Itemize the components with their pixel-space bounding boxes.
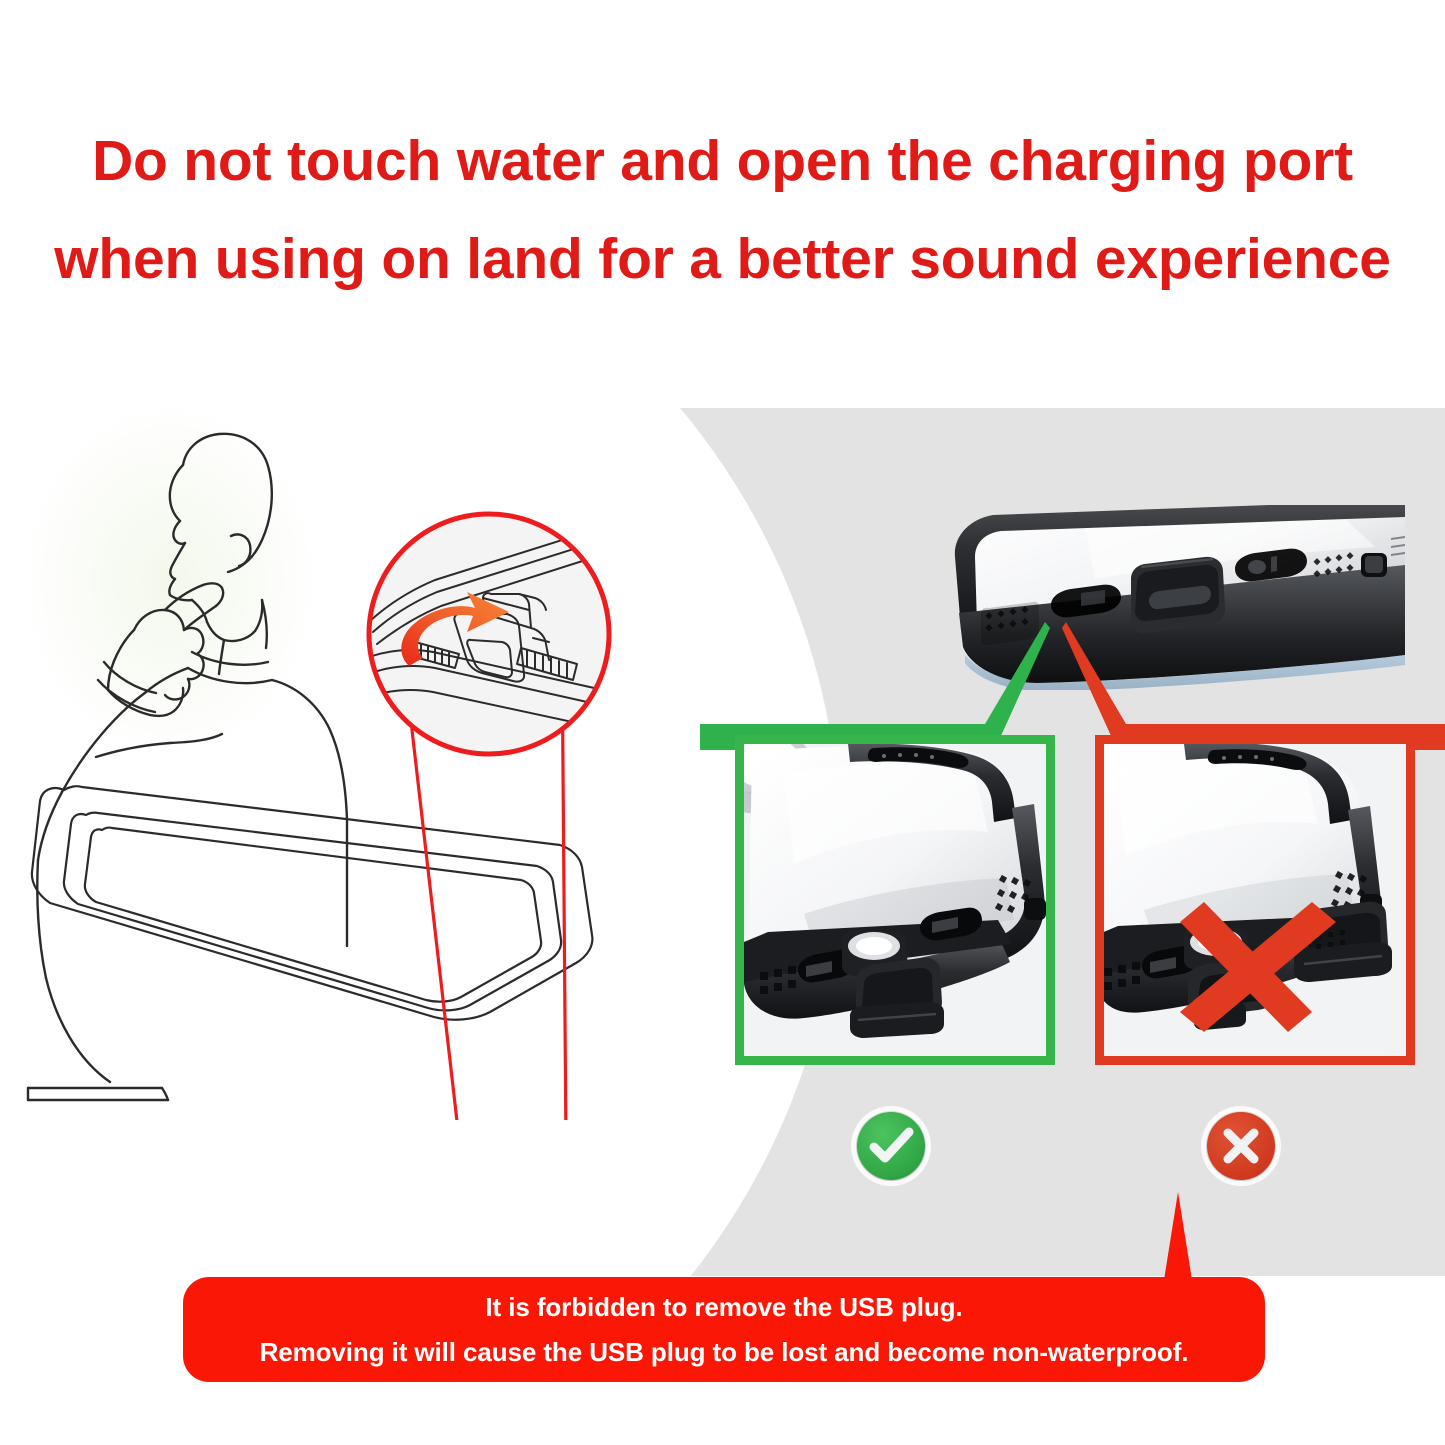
warning-banner: It is forbidden to remove the USB plug. … <box>183 1277 1265 1382</box>
page-title-line-1: Do not touch water and open the charging… <box>0 112 1445 210</box>
check-icon <box>874 1132 909 1158</box>
cross-badge <box>1207 1112 1275 1180</box>
page-title: Do not touch water and open the charging… <box>0 112 1445 308</box>
banner-pointer-arrow <box>1148 1192 1208 1282</box>
comparison-panel-correct <box>735 735 1055 1065</box>
check-badge <box>857 1112 925 1180</box>
warning-banner-line-1: It is forbidden to remove the USB plug. <box>485 1285 962 1330</box>
comparison-panel-incorrect <box>1095 735 1415 1065</box>
comparison-arrows <box>700 620 1445 750</box>
instruction-graphic: Do not touch water and open the charging… <box>0 0 1445 1445</box>
page-title-line-2: when using on land for a better sound ex… <box>0 210 1445 308</box>
red-arrow <box>1062 622 1445 750</box>
close-icon <box>1228 1133 1254 1159</box>
green-arrow <box>700 622 1050 750</box>
warning-banner-line-2: Removing it will cause the USB plug to b… <box>260 1330 1189 1375</box>
charging-port-closeup-magnifier <box>363 508 615 760</box>
